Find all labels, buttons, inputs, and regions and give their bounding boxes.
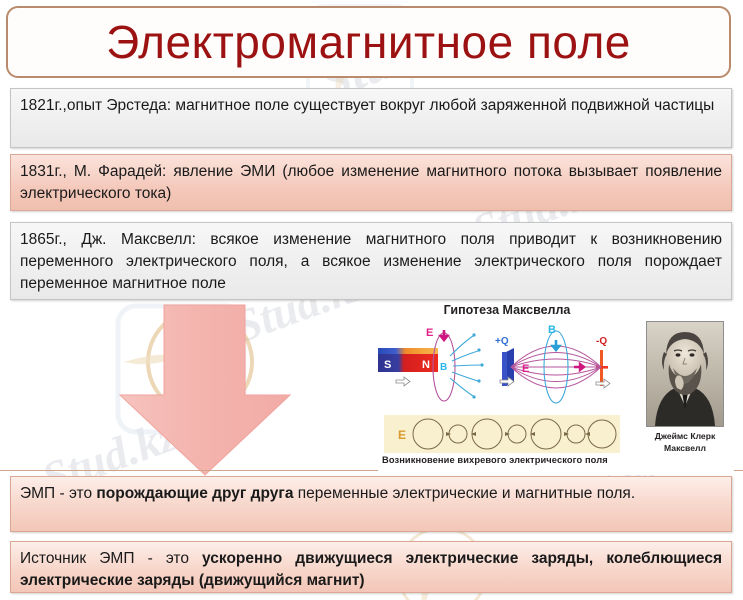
conclusion-block-definition: ЭМП - это порождающие друг друга перемен… [10, 476, 732, 532]
svg-text:E: E [426, 327, 433, 339]
conclusion-block-source: Источник ЭМП - это ускоренно движущиеся … [10, 541, 732, 593]
maxwell-hypothesis-diagram: S N E B [378, 320, 634, 414]
illustration-title: Гипотеза Максвелла [378, 303, 636, 317]
svg-text:B: B [440, 362, 447, 373]
conclusion-prefix: Источник ЭМП - это [20, 550, 202, 567]
slide-title-box: Электромагнитное поле [6, 6, 731, 78]
statement-block-oersted: 1821г.,опыт Эрстеда: магнитное поле суще… [10, 88, 732, 148]
vortex-field-diagram: E [384, 415, 620, 453]
svg-text:S: S [384, 359, 391, 371]
statement-block-faraday: 1831г., М. Фарадей: явление ЭМИ (любое и… [10, 154, 732, 211]
svg-text:N: N [422, 359, 430, 371]
statement-text: 1865г., Дж. Максвелл: всякое изменение м… [20, 231, 722, 292]
statement-text: 1821г.,опыт Эрстеда: магнитное поле суще… [20, 97, 714, 114]
statement-text: 1831г., М. Фарадей: явление ЭМИ (любое и… [20, 163, 722, 202]
illustration-panel: Гипотеза Максвелла [378, 303, 734, 475]
portrait-card: Джеймс Клерк Максвелл [636, 319, 734, 469]
page-title: Электромагнитное поле [106, 19, 631, 65]
maxwell-portrait [646, 321, 724, 427]
portrait-caption-line2: Максвелл [664, 443, 706, 453]
conclusion-suffix: переменные электрические и магнитные пол… [293, 485, 635, 502]
slide-root: Stud.kz Stud.kz Stud.kz Stud.kz Stud.kz … [0, 0, 743, 600]
conclusion-prefix: ЭМП - это [20, 485, 96, 502]
portrait-caption: Джеймс Клерк Максвелл [636, 431, 734, 454]
svg-text:B: B [548, 324, 556, 336]
conclusion-bold: порождающие друг друга [96, 485, 293, 502]
statement-block-maxwell: 1865г., Дж. Максвелл: всякое изменение м… [10, 222, 732, 300]
down-arrow [118, 303, 293, 478]
svg-text:-Q: -Q [596, 336, 607, 347]
svg-text:+Q: +Q [495, 336, 509, 347]
portrait-caption-line1: Джеймс Клерк [655, 431, 716, 441]
vortex-caption: Возникновение вихревого электрического п… [382, 455, 632, 465]
svg-text:E: E [522, 363, 529, 375]
vortex-e-label: E [398, 428, 406, 442]
